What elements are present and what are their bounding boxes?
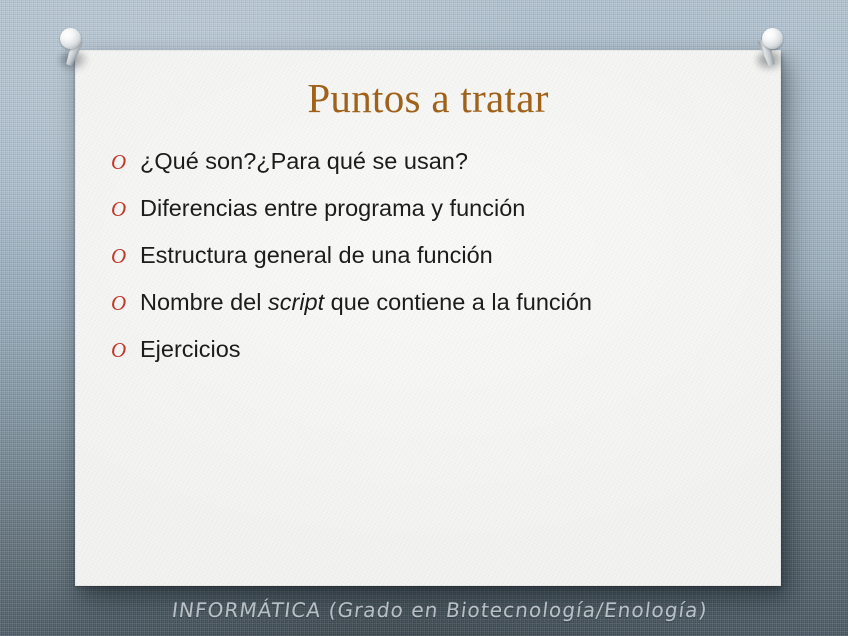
list-item-label: Estructura general de una función bbox=[140, 244, 493, 268]
pushpin-head bbox=[60, 28, 81, 49]
list-item-label: ¿Qué son?¿Para qué se usan? bbox=[140, 150, 468, 174]
list-item-label-prefix: Nombre del bbox=[140, 289, 268, 315]
list-item-label: Nombre del script que contiene a la func… bbox=[140, 291, 592, 315]
bullet-o-icon: O bbox=[111, 340, 140, 361]
list-item-label-suffix: que contiene a la función bbox=[324, 289, 592, 315]
pushpin-head bbox=[762, 28, 783, 49]
list-item: O Ejercicios bbox=[111, 338, 757, 385]
page-title: Puntos a tratar bbox=[75, 74, 781, 122]
bullet-o-icon: O bbox=[111, 152, 140, 173]
presentation-slide: Puntos a tratar O ¿Qué son?¿Para qué se … bbox=[0, 0, 848, 636]
list-item: O Nombre del script que contiene a la fu… bbox=[111, 291, 757, 338]
bullet-list: O ¿Qué son?¿Para qué se usan? O Diferenc… bbox=[111, 150, 757, 385]
list-item: O Estructura general de una función bbox=[111, 244, 757, 291]
bullet-o-icon: O bbox=[111, 293, 140, 314]
bullet-o-icon: O bbox=[111, 199, 140, 220]
list-item-label: Ejercicios bbox=[140, 338, 241, 362]
slide-footer: INFORMÁTICA (Grado en Biotecnología/Enol… bbox=[171, 598, 710, 622]
list-item-label-emphasis: script bbox=[268, 289, 324, 315]
list-item: O ¿Qué son?¿Para qué se usan? bbox=[111, 150, 757, 197]
list-item-label: Diferencias entre programa y función bbox=[140, 197, 525, 221]
slide-paper-sheet: Puntos a tratar O ¿Qué son?¿Para qué se … bbox=[75, 50, 781, 586]
bullet-o-icon: O bbox=[111, 246, 140, 267]
list-item: O Diferencias entre programa y función bbox=[111, 197, 757, 244]
